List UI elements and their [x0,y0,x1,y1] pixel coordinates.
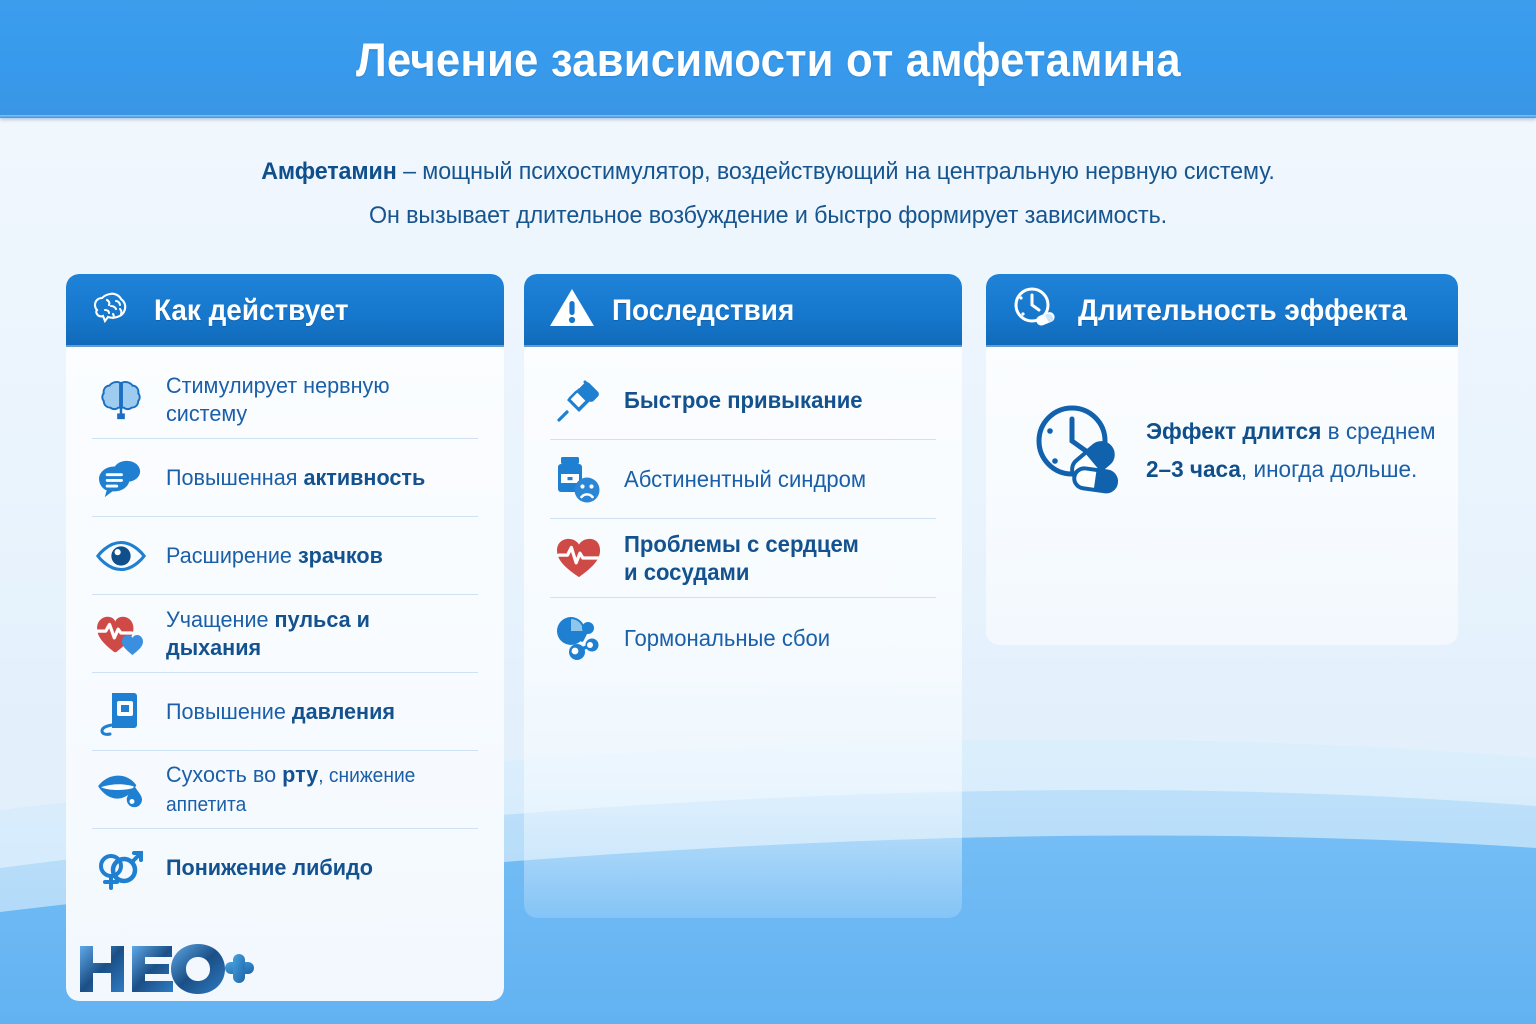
brain-icon [92,377,150,423]
list-item-label: Стимулирует нервную систему [166,372,466,428]
list-item: Стимулирует нервную систему [92,361,478,439]
page-header-bar: Лечение зависимости от амфетамина [0,0,1536,118]
duration-text: Эффект длится в среднем 2–3 часа, иногда… [1146,412,1435,488]
warning-triangle-icon [548,286,596,335]
pill-bottle-sad-face-icon [550,455,608,503]
card-duration-title: Длительность эффекта [1078,294,1407,328]
eye-icon [92,539,150,573]
card-duration: Длительность эффекта [986,274,1458,645]
card-consequences-title: Последствия [612,294,794,328]
list-item-label: Учащение пульса и дыхания [166,606,466,662]
list-item-label: Повышение давления [166,698,395,726]
chat-bubbles-icon [92,457,150,499]
clock-capsules-icon [1030,399,1128,500]
page-title: Лечение зависимости от амфетамина [356,32,1181,87]
syringe-icon [550,376,608,424]
blood-pressure-monitor-icon [92,688,150,736]
card-how-title: Как действует [154,294,349,328]
heartbeat-icon [92,612,150,656]
list-item-label: Проблемы с сердцем и сосудами [624,530,859,586]
intro-line-1-rest: – мощный психостимулятор, воздействующий… [397,158,1275,185]
list-item-label: Расширение зрачков [166,542,383,570]
list-item: Понижение либидо [92,829,478,907]
list-item: Гормональные сбои [550,598,936,677]
card-consequences-header: Последствия [524,274,962,347]
list-item-label: Гормональные сбои [624,624,830,652]
intro-keyword: Амфетамин [261,158,396,185]
hormones-molecule-icon [550,614,608,662]
list-item-label: Быстрое привыкание [624,386,863,414]
brand-logo: НЕО+ [78,940,254,1003]
gender-symbols-icon [92,844,150,892]
list-item-label: Повышенная активность [166,464,425,492]
list-item: Быстрое привыкание [550,361,936,440]
card-how-it-works: Как действует Стимулирует нервную систем… [66,274,504,1001]
card-how-header: Как действует [66,274,504,347]
intro-line-1: Амфетамин – мощный психостимулятор, возд… [38,150,1497,194]
intro-paragraph: Амфетамин – мощный психостимулятор, возд… [0,150,1536,238]
card-duration-header: Длительность эффекта [986,274,1458,347]
list-item-label: Абстинентный синдром [624,465,866,493]
dry-mouth-icon [92,769,150,811]
list-item: Абстинентный синдром [550,440,936,519]
list-item: Повышенная активность [92,439,478,517]
list-item-label: Сухость во рту, снижение аппетита [166,761,466,819]
heart-pulse-red-icon [550,536,608,580]
list-item: Проблемы с сердцем и сосудами [550,519,936,598]
intro-line-2: Он вызывает длительное возбуждение и быс… [38,194,1497,238]
duration-content: Эффект длится в среднем 2–3 часа, иногда… [986,347,1458,500]
card-consequences: Последствия Быстрое привыкание [524,274,962,918]
card-consequences-body: Быстрое привыкание Абстинентный синдром [524,347,962,918]
card-duration-body: Эффект длится в среднем 2–3 часа, иногда… [986,347,1458,645]
card-how-body: Стимулирует нервную систему Повышенная а… [66,347,504,1001]
list-item: Сухость во рту, снижение аппетита [92,751,478,829]
brain-outline-icon [90,288,138,333]
list-item: Учащение пульса и дыхания [92,595,478,673]
list-item: Расширение зрачков [92,517,478,595]
list-item-label: Понижение либидо [166,854,373,882]
list-item: Повышение давления [92,673,478,751]
clock-pills-icon [1010,285,1062,336]
